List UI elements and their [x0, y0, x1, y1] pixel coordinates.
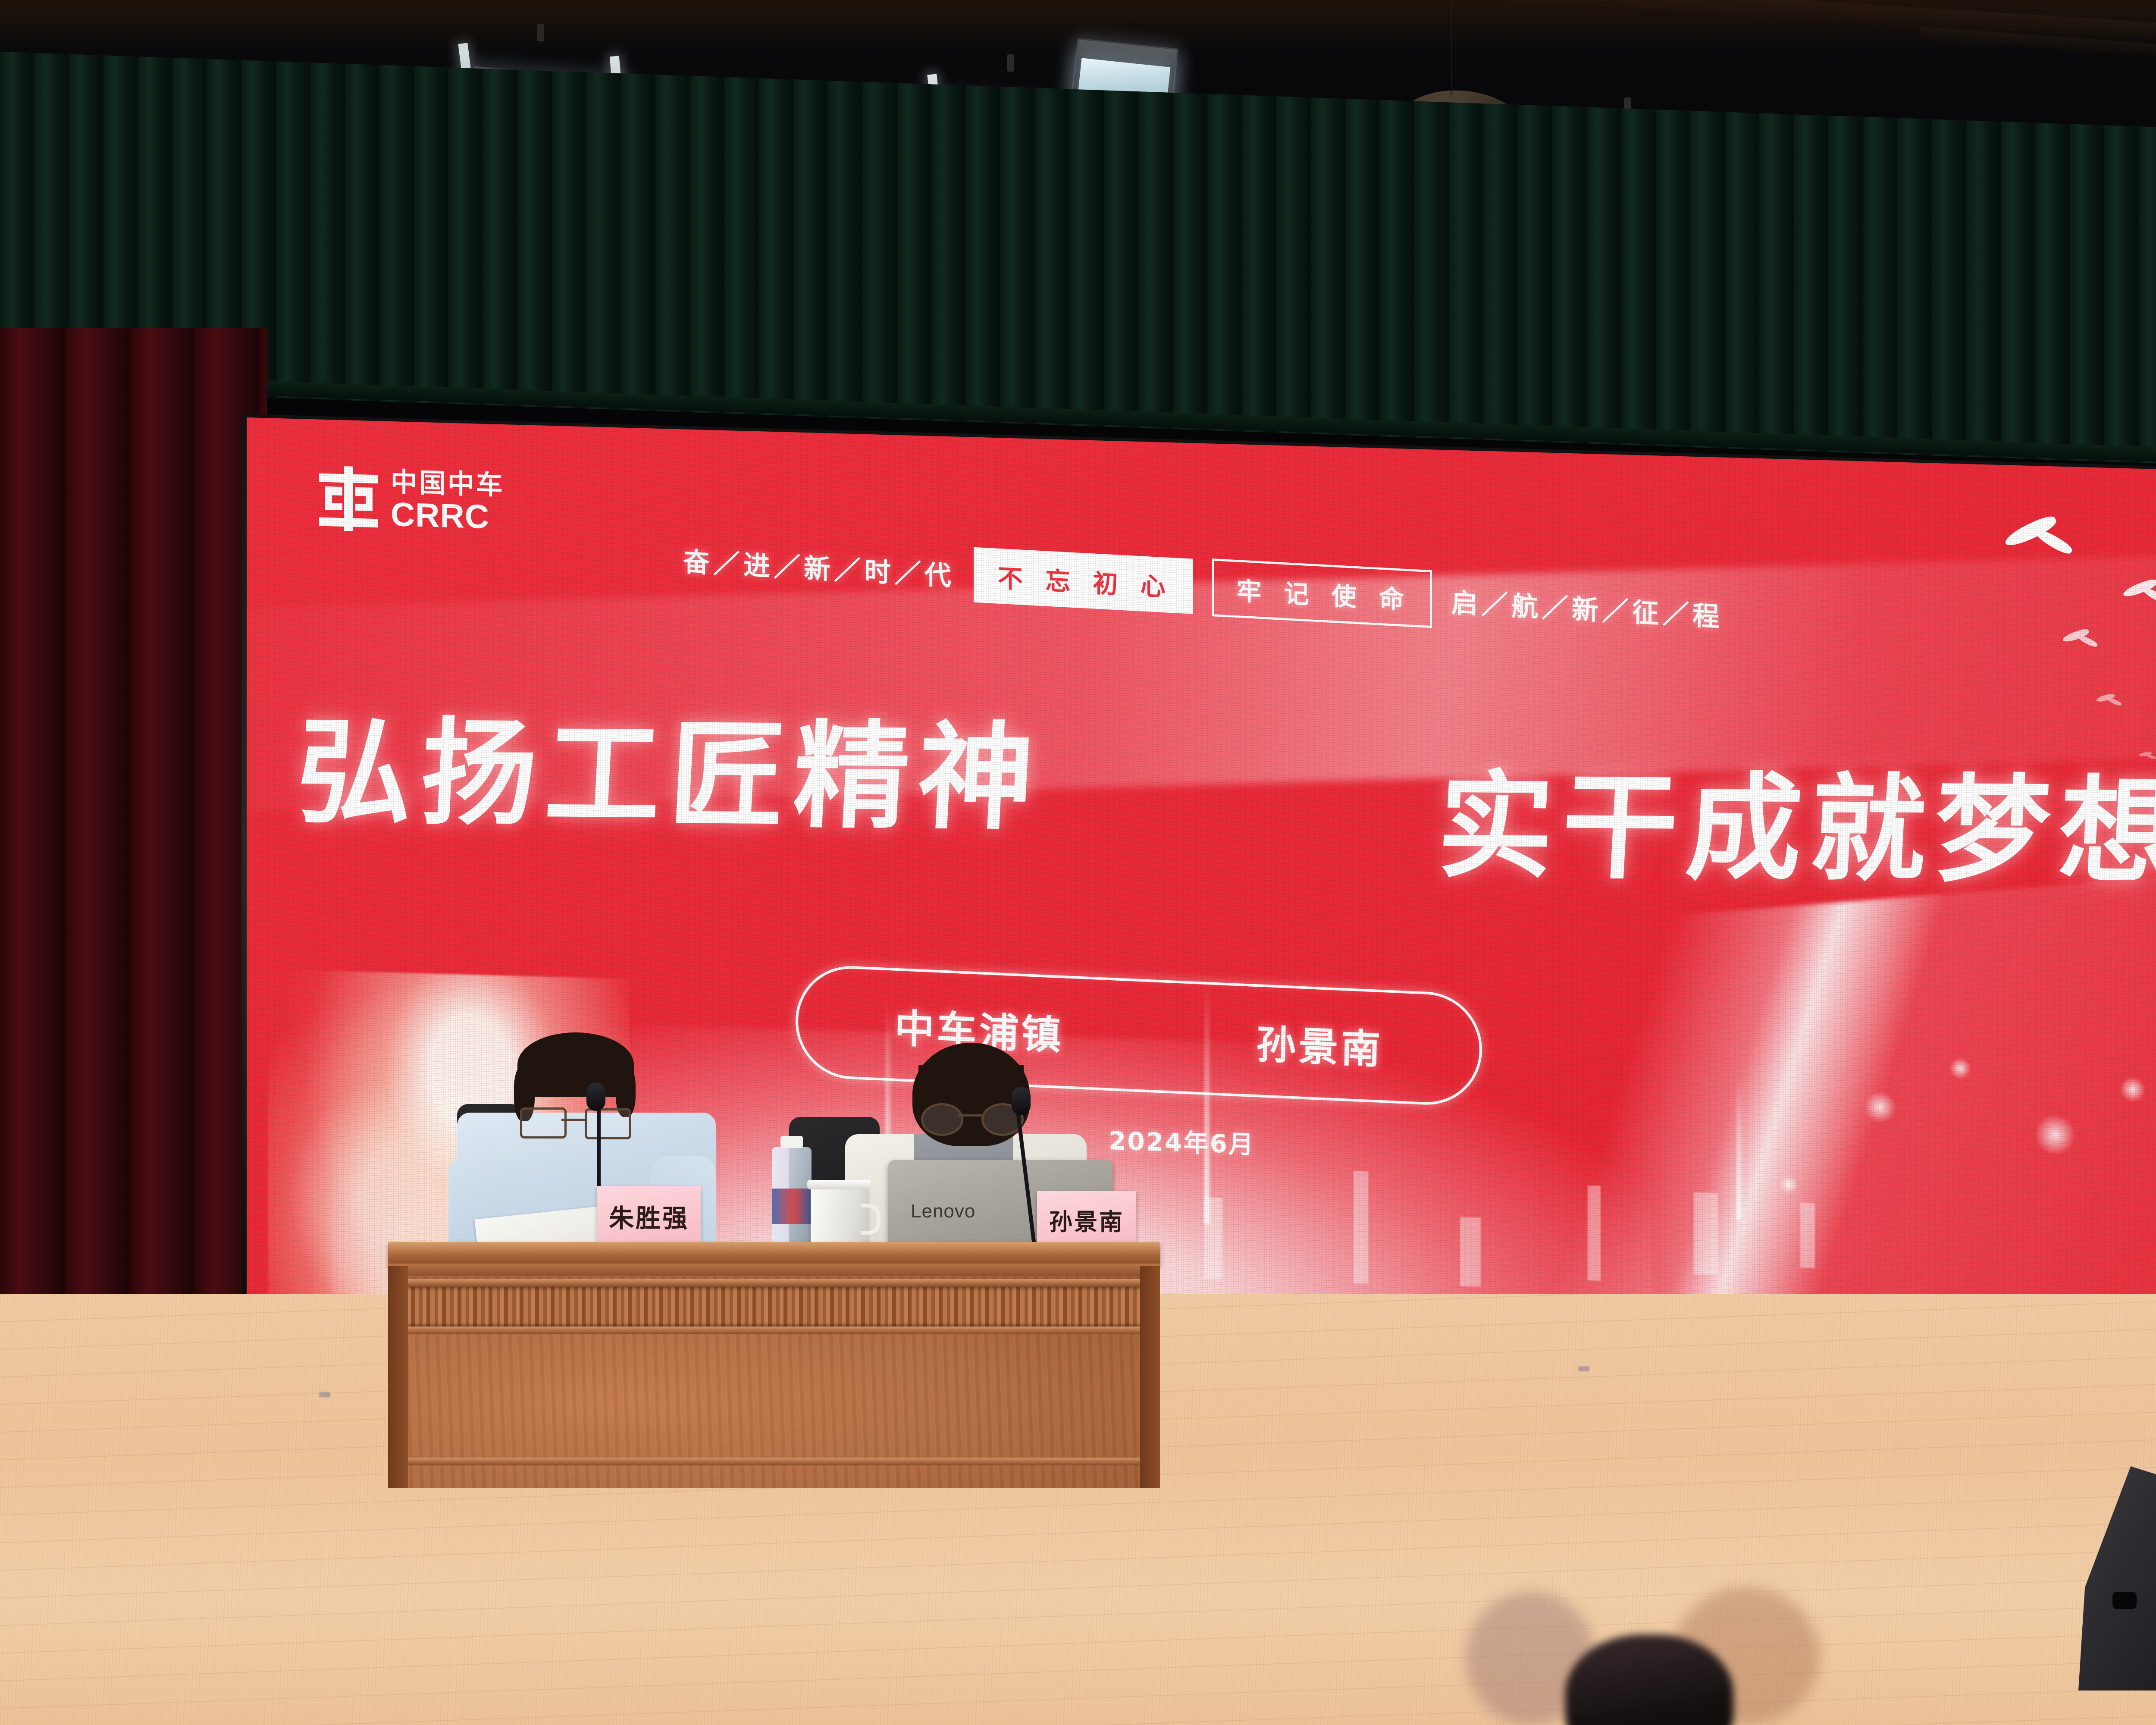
microphone-capsule-icon [1012, 1087, 1031, 1115]
laptop-brand-label: Lenovo [911, 1201, 975, 1222]
desk-top-lip [388, 1264, 1160, 1276]
mug-handle [861, 1204, 881, 1235]
crrc-logo-english: CRRC [391, 497, 505, 534]
floor-shadow-gradient [0, 0, 2156, 52]
crrc-logo-text: 中国中车 CRRC [391, 469, 505, 534]
floor-tape-mark [1578, 1366, 1589, 1371]
desk-rail [388, 1279, 1160, 1287]
screen-headline-part1: 弘扬工匠精神 [293, 679, 1047, 852]
mug-lid [807, 1180, 871, 1189]
presidium-desk [388, 1242, 1160, 1488]
pill-speaker-label: 孙景南 [1256, 1012, 1384, 1075]
nameplate-card: 孙景南 [1037, 1191, 1136, 1248]
monitor-side-panel [2078, 1466, 2156, 1690]
nameplate-right: 孙景南 [1037, 1191, 1136, 1248]
screen-headline-part2: 实干成就梦想 [1434, 732, 2156, 905]
nameplate-right-name: 孙景南 [1049, 1203, 1124, 1237]
slogan-chip-outline: 牢 记 使 命 [1212, 558, 1432, 628]
crrc-logo: 中国中车 CRRC [319, 465, 505, 535]
screen-skyline-building [1694, 1192, 1718, 1275]
screen-skyline-building [1460, 1217, 1481, 1286]
slogan-left: 奋／进／新／时／代 [683, 540, 955, 593]
nameplate-card: 朱胜强 [597, 1186, 701, 1246]
desk-right-side-panel [1140, 1266, 1160, 1488]
fixture-yoke [1007, 54, 1014, 72]
microphone-capsule-icon [586, 1082, 605, 1111]
crrc-logo-chinese: 中国中车 [391, 469, 505, 499]
auditorium-stage-scene: 中国中车 CRRC 奋／进／新／时／代 不 忘 初 心 牢 记 使 命 启／航／… [0, 0, 2156, 1725]
desk-top-surface [388, 1242, 1160, 1266]
microphone-stem [1016, 1113, 1037, 1251]
desk-rail [388, 1327, 1160, 1334]
floor-tape-mark [319, 1392, 330, 1397]
monitor-carry-handle [2112, 1592, 2137, 1609]
bottle-cap [780, 1136, 803, 1148]
screen-skyline-building [1588, 1186, 1601, 1281]
water-bottle [772, 1147, 812, 1251]
screen-light-beam [1736, 1078, 1742, 1220]
desk-left-side-panel [388, 1266, 408, 1488]
stage-monitor-speaker [2078, 1466, 2156, 1690]
bottle-label [772, 1189, 812, 1224]
screen-bokeh [1779, 1175, 1798, 1194]
screen-skyline-building [1800, 1203, 1815, 1268]
nameplate-left: 朱胜强 [597, 1186, 701, 1246]
crrc-emblem-icon [319, 465, 378, 532]
screen-bokeh [2120, 1076, 2146, 1103]
screen-bokeh [1949, 1057, 1971, 1079]
slogan-chip-solid: 不 忘 初 心 [974, 547, 1193, 614]
side-curtain-left [0, 328, 267, 1363]
slogan-right: 启／航／新／征／程 [1451, 581, 1723, 634]
nameplate-left-name: 朱胜强 [609, 1198, 689, 1234]
screen-skyline-building [1354, 1171, 1368, 1284]
desk-rail [388, 1458, 1160, 1465]
desk-carved-meander-band [388, 1287, 1160, 1327]
